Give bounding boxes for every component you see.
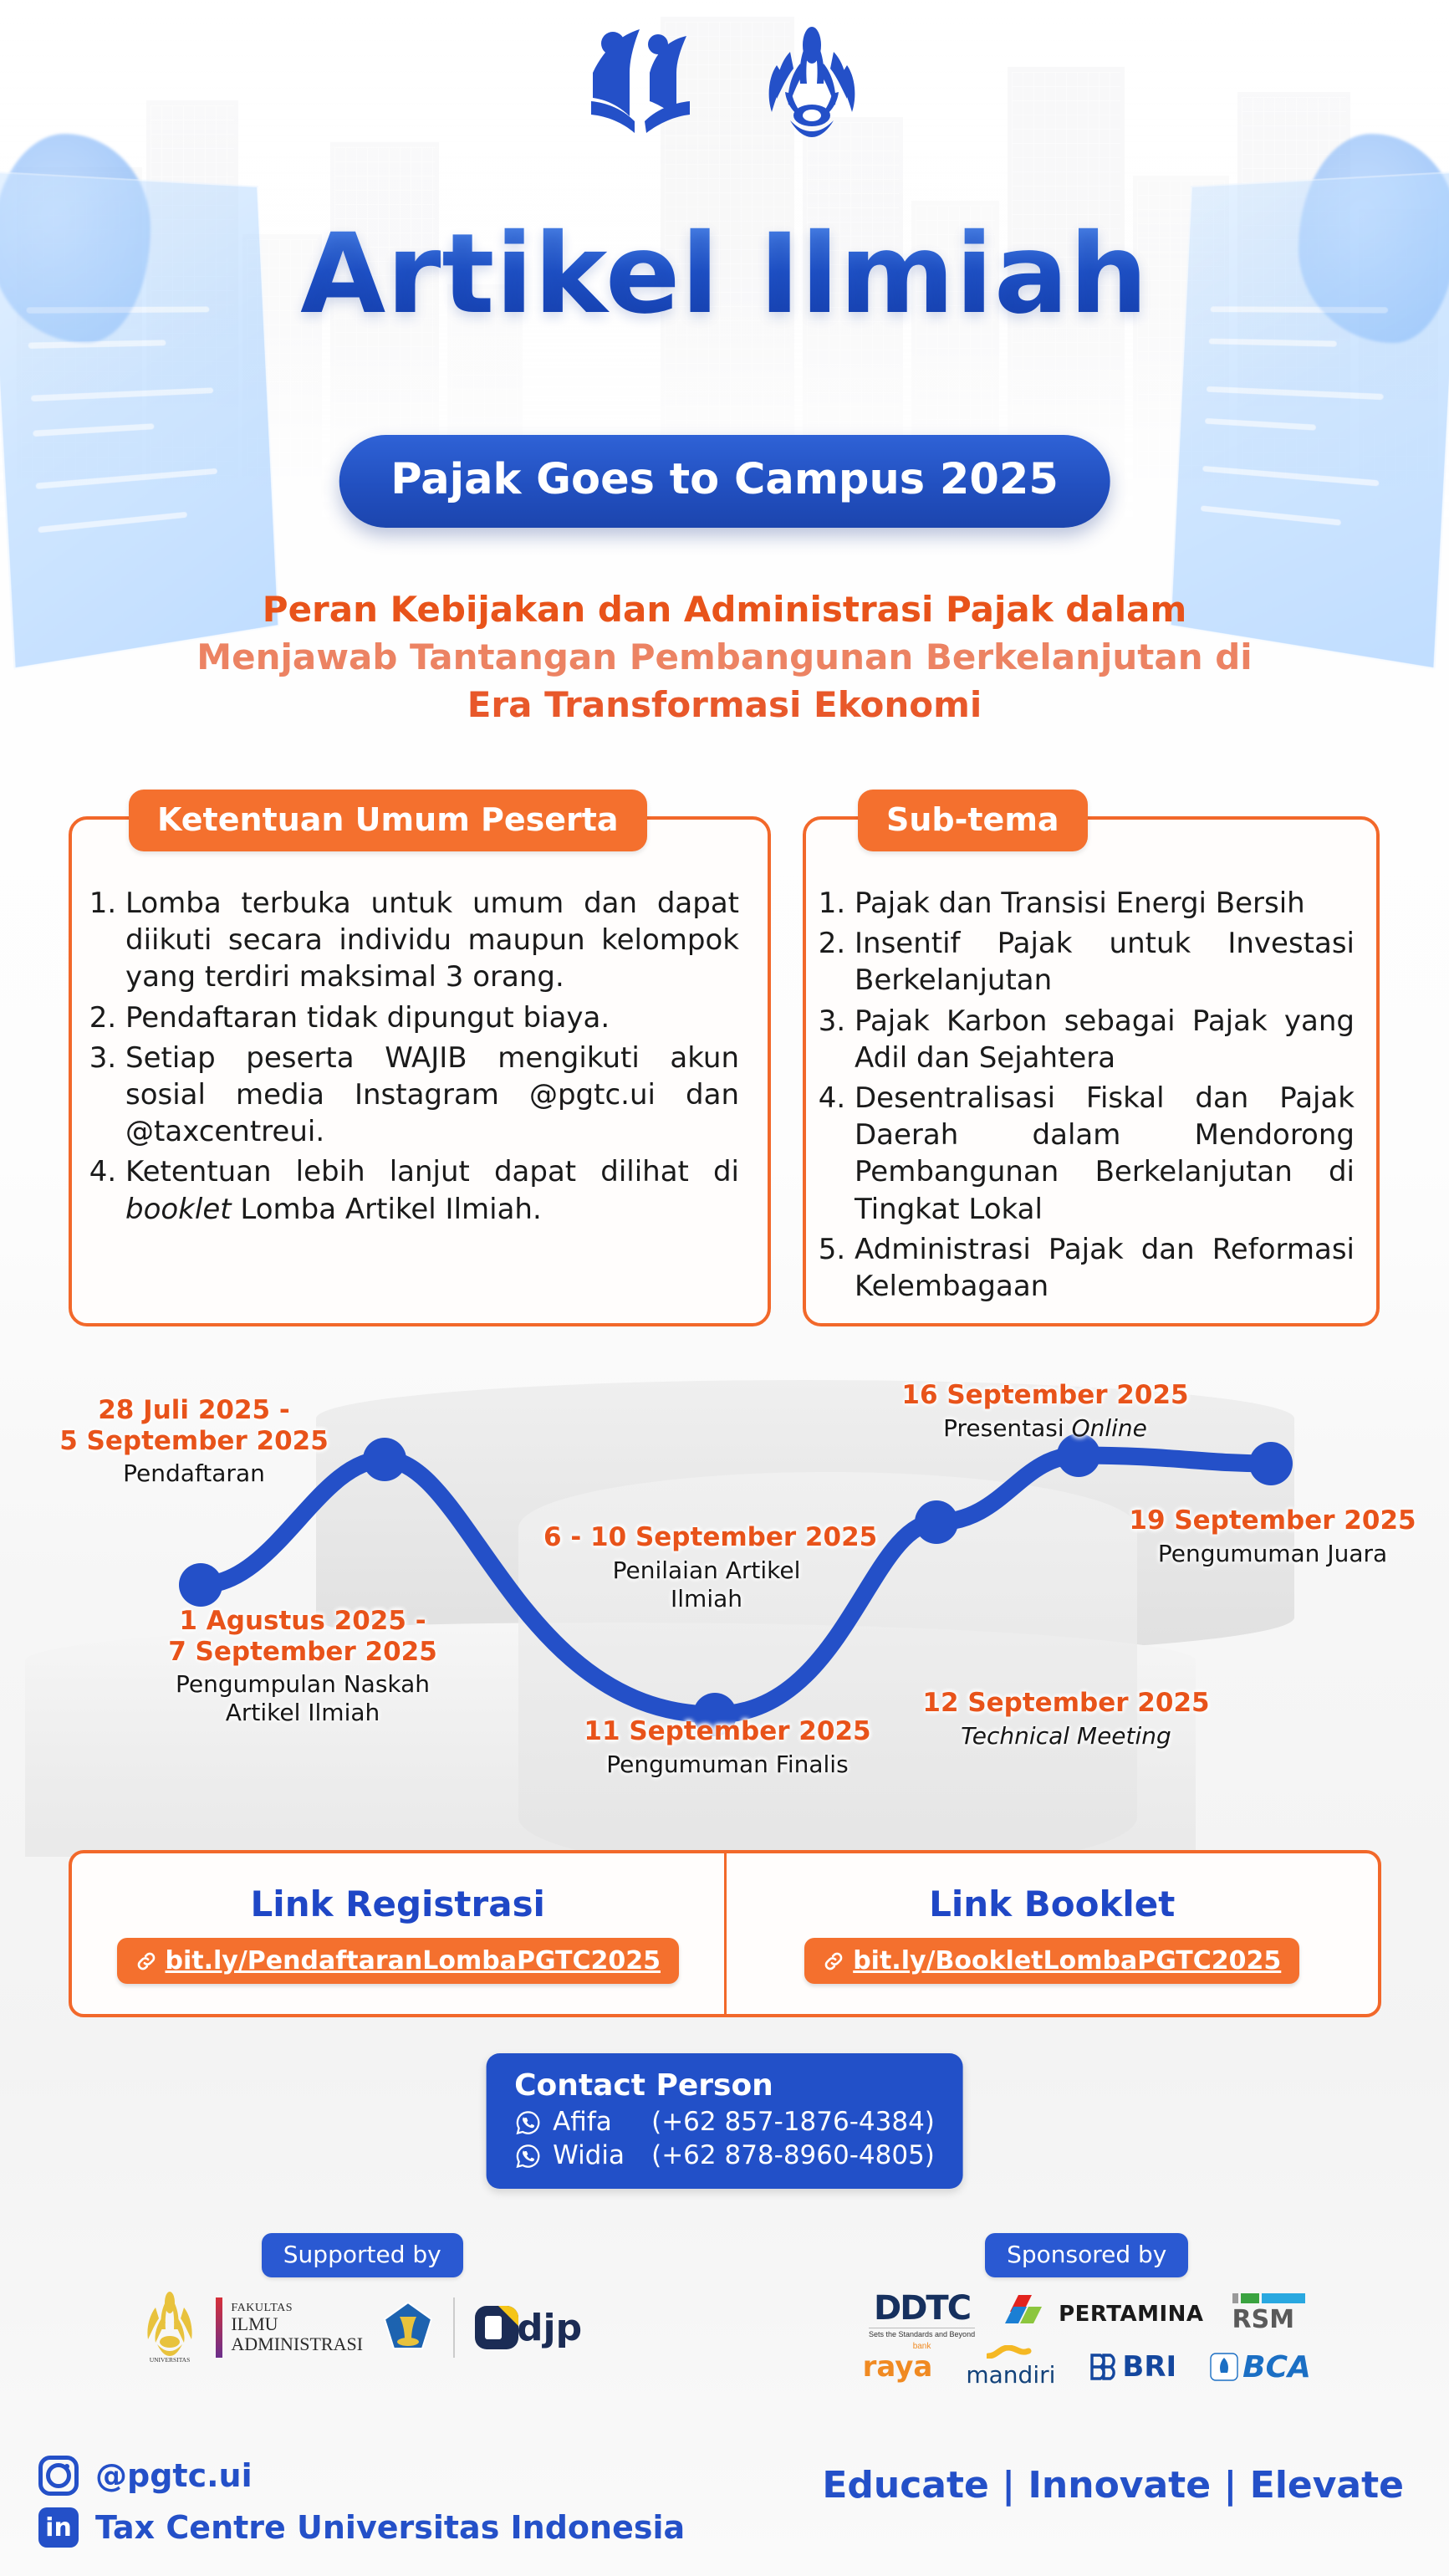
bank-raya-logo: bank raya [863,2350,933,2384]
page-title: Artikel Ilmiah [0,219,1449,330]
registration-link-column: Link Registrasi bit.ly/PendaftaranLombaP… [72,1853,724,2014]
timeline-label-juara: 19 September 2025 Pengumuman Juara [1105,1505,1440,1568]
pertamina-logo: PERTAMINA [1003,2292,1203,2337]
header-logos [0,13,1449,147]
timeline-label-penilaian: 6 - 10 September 2025 Penilaian ArtikelI… [543,1522,870,1613]
tagline: Educate | Innovate | Elevate [822,2464,1404,2507]
timeline-node-6 [1249,1442,1293,1485]
sponsors-section: Supported by UNIVERSITAS [0,2233,1449,2417]
links-panel: Link Registrasi bit.ly/PendaftaranLombaP… [69,1850,1381,2017]
booklet-link-title: Link Booklet [929,1883,1175,1924]
sponsored-by-logos-row2: bank raya mandiri BRI BCA [863,2345,1311,2389]
bri-logo: BRI [1089,2350,1176,2384]
subtheme-box-heading: Sub-tema [858,790,1088,851]
timeline-label-presentasi: 16 September 2025 Presentasi Online [886,1380,1204,1443]
booklet-link-url: bit.ly/BookletLombaPGTC2025 [853,1946,1281,1975]
timeline-label-technical-meeting: 12 September 2025 Technical Meeting [907,1688,1225,1751]
mandiri-logo: mandiri [966,2345,1055,2389]
svg-text:UNIVERSITAS: UNIVERSITAS [150,2356,191,2364]
list-item: Desentralisasi Fiskal dan Pajak Daerah d… [855,1080,1355,1228]
linkedin-icon: in [38,2507,79,2548]
registration-link-button[interactable]: bit.ly/PendaftaranLombaPGTC2025 [117,1938,680,1984]
sponsored-by-logos-row1: DDTC Sets the Standards and Beyond PERTA… [869,2289,1305,2338]
supported-by-column: Supported by UNIVERSITAS [0,2233,725,2417]
rules-box-heading: Ketentuan Umum Peserta [129,790,647,851]
rule4-prefix: Ketentuan lebih lanjut dapat dilihat di [125,1155,739,1188]
rule4-italic: booklet [125,1193,232,1226]
supported-by-logos: UNIVERSITAS FAKULTAS ILMU ADMINISTRASI [142,2289,582,2366]
link-chain-icon [823,1950,844,1972]
list-item: Pendaftaran tidak dipungut biaya. [125,999,739,1036]
footer: @pgtc.ui in Tax Centre Universitas Indon… [0,2451,1449,2568]
contact-row[interactable]: Afifa (+62 857-1876-4384) [514,2106,935,2139]
rules-list: Lomba terbuka untuk umum dan dapat diiku… [125,885,739,1228]
kementerian-keuangan-logo [381,2300,435,2355]
contact-row[interactable]: Widia (+62 878-8960-4805) [514,2139,935,2173]
subtitle-line-3: Era Transformasi Ekonomi [0,681,1449,728]
timeline-label-pendaftaran: 28 Juli 2025 -5 September 2025 Pendaftar… [43,1395,344,1488]
link-chain-icon [135,1950,157,1972]
subtitle-line-1: Peran Kebijakan dan Administrasi Pajak d… [0,585,1449,633]
rsm-logo: RSM [1232,2293,1305,2334]
whatsapp-icon [514,2109,541,2136]
linkedin-handle: Tax Centre Universitas Indonesia [95,2509,685,2546]
rules-box: Ketentuan Umum Peserta Lomba terbuka unt… [69,816,771,1326]
linkedin-row[interactable]: in Tax Centre Universitas Indonesia [38,2507,685,2548]
footer-social: @pgtc.ui in Tax Centre Universitas Indon… [38,2456,685,2559]
rule4-suffix: Lomba Artikel Ilmiah. [232,1193,542,1226]
djp-logo: djp [473,2304,582,2351]
instagram-icon [38,2456,79,2496]
contact-phone: (+62 878-8960-4805) [651,2139,935,2173]
instagram-row[interactable]: @pgtc.ui [38,2456,685,2496]
timeline-label-finalis: 11 September 2025 Pengumuman Finalis [569,1716,886,1779]
timeline-label-pengumpulan: 1 Agustus 2025 -7 September 2025 Pengump… [135,1606,470,1727]
event-badge: Pajak Goes to Campus 2025 [339,435,1110,528]
timeline-chart: 28 Juli 2025 -5 September 2025 Pendaftar… [0,1372,1449,1857]
instagram-handle: @pgtc.ui [95,2457,253,2494]
sponsored-by-column: Sponsored by DDTC Sets the Standards and… [725,2233,1449,2417]
supported-by-label: Supported by [262,2233,463,2277]
subtheme-box: Sub-tema Pajak dan Transisi Energi Bersi… [803,816,1380,1326]
open-book-people-logo [588,24,713,137]
contact-heading: Contact Person [514,2068,935,2103]
hero-title-wrap: Artikel Ilmiah [0,219,1449,330]
timeline-node-2 [363,1438,406,1481]
timeline-node-4 [915,1500,958,1544]
subtheme-list: Pajak dan Transisi Energi Bersih Insenti… [855,885,1355,1305]
list-item: Pajak Karbon sebagai Pajak yang Adil dan… [855,1003,1355,1076]
theme-subtitle: Peran Kebijakan dan Administrasi Pajak d… [0,585,1449,728]
list-item: Lomba terbuka untuk umum dan dapat diiku… [125,885,739,996]
contact-person-card: Contact Person Afifa (+62 857-1876-4384)… [486,2053,963,2189]
universitas-indonesia-makara-logo [762,22,862,139]
contact-name: Afifa [553,2106,640,2139]
universitas-indonesia-logo: UNIVERSITAS [142,2289,197,2366]
fakultas-ilmu-administrasi-logo: FAKULTAS ILMU ADMINISTRASI [216,2297,363,2358]
list-item: Pajak dan Transisi Energi Bersih [855,885,1355,922]
list-item: Setiap peserta WAJIB mengikuti akun sosi… [125,1040,739,1151]
list-item: Insentif Pajak untuk Investasi Berkelanj… [855,925,1355,999]
timeline-node-1 [179,1563,222,1607]
ddtc-logo: DDTC Sets the Standards and Beyond [869,2289,975,2338]
poster-root: Artikel Ilmiah Pajak Goes to Campus 2025… [0,0,1449,2576]
contact-phone: (+62 857-1876-4384) [651,2106,935,2139]
bca-logo: BCA [1210,2350,1311,2384]
registration-link-url: bit.ly/PendaftaranLombaPGTC2025 [166,1946,661,1975]
registration-link-title: Link Registrasi [251,1883,545,1924]
booklet-link-column: Link Booklet bit.ly/BookletLombaPGTC2025 [724,1853,1379,2014]
sponsored-by-label: Sponsored by [985,2233,1188,2277]
list-item: Ketentuan lebih lanjut dapat dilihat di … [125,1153,739,1227]
whatsapp-icon [514,2143,541,2170]
logo-divider [453,2297,455,2358]
list-item: Administrasi Pajak dan Reformasi Kelemba… [855,1231,1355,1305]
booklet-link-button[interactable]: bit.ly/BookletLombaPGTC2025 [804,1938,1299,1984]
subtitle-line-2: Menjawab Tantangan Pembangunan Berkelanj… [0,633,1449,681]
info-boxes: Ketentuan Umum Peserta Lomba terbuka unt… [0,796,1449,1373]
contact-name: Widia [553,2139,640,2173]
